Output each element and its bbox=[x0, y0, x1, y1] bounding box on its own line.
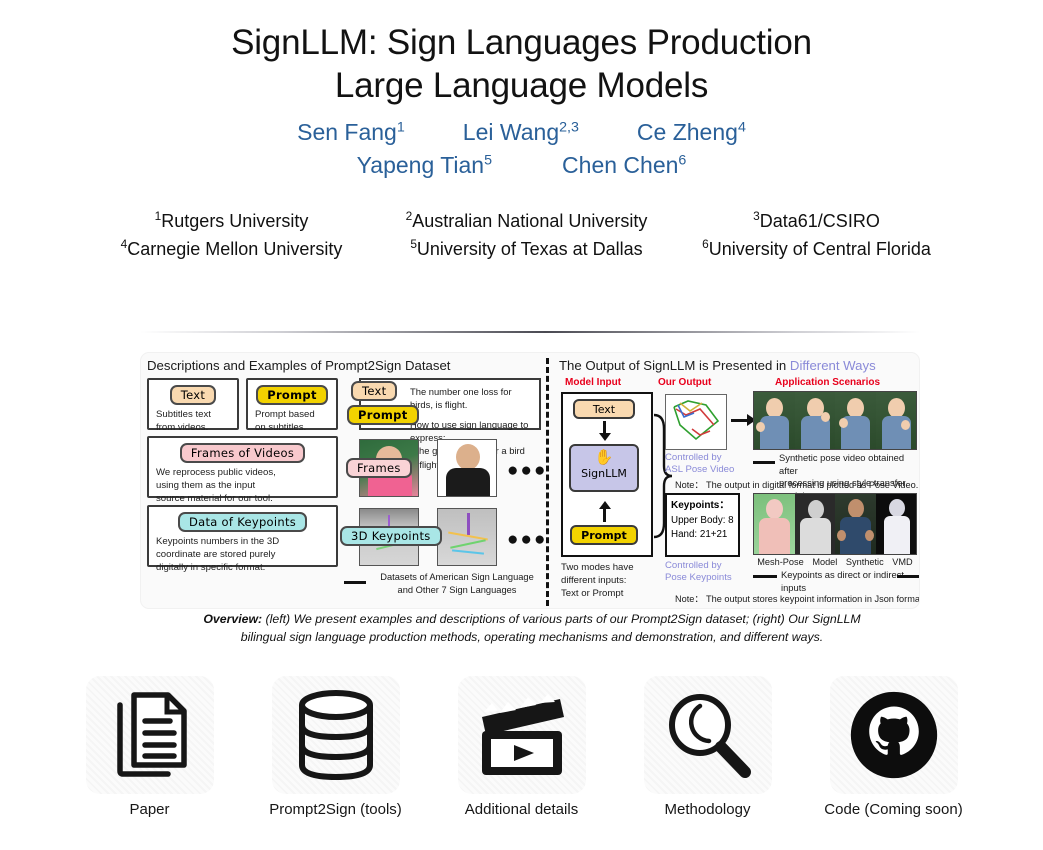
pill-text: Text bbox=[170, 385, 216, 405]
card-text-body: Subtitles textfrom videos. bbox=[149, 405, 237, 434]
scenario-caption-bar bbox=[753, 461, 775, 464]
author-sup: 2,3 bbox=[559, 120, 579, 136]
figure-caption: Overview: (left) We present examples and… bbox=[152, 610, 912, 647]
panel-separator bbox=[546, 358, 549, 606]
affiliation-5: 5University of Texas at Dallas bbox=[377, 236, 677, 264]
affiliation-list: 1Rutgers University 2Australian National… bbox=[0, 208, 1043, 264]
card-frames-of-videos: Frames of Videos We reprocess public vid… bbox=[147, 436, 338, 498]
node-prompt: Prompt bbox=[570, 525, 638, 545]
pill-example-prompt: Prompt bbox=[347, 405, 419, 425]
keypoints-box: Keypoints： Upper Body: 8 Hand: 21+21 bbox=[665, 493, 740, 557]
frame-thumb-2 bbox=[437, 439, 497, 497]
arrow-shaft-2 bbox=[603, 509, 606, 522]
dataset-caption: Datasets of American Sign Language and O… bbox=[373, 571, 541, 596]
arrow-head-2 bbox=[599, 501, 611, 509]
keypoints-caption: Keypoints as direct or indirect inputs bbox=[781, 569, 920, 594]
github-tile[interactable] bbox=[830, 676, 958, 794]
link-prompt2sign-tools[interactable]: Prompt2Sign (tools) bbox=[272, 676, 400, 818]
keypoints-ellipsis: ●●● bbox=[507, 530, 547, 549]
pose-video-thumb bbox=[665, 394, 727, 450]
figure-right-panel: The Output of SignLLM is Presented in Di… bbox=[553, 353, 920, 609]
title-line-1: SignLLM: Sign Languages Production bbox=[0, 22, 1043, 65]
paper-label: Paper bbox=[129, 801, 169, 818]
keypoints-caption-bar-left bbox=[753, 575, 777, 578]
right-panel-heading: The Output of SignLLM is Presented in Di… bbox=[553, 353, 920, 377]
pill-frames: Frames bbox=[346, 458, 412, 478]
link-icon-row: Paper Prompt2Sign (tools) bbox=[0, 676, 1043, 818]
additional-details-label: Additional details bbox=[465, 801, 578, 818]
author-lei-wang[interactable]: Lei Wang2,3 bbox=[463, 117, 579, 148]
link-code[interactable]: Code (Coming soon) bbox=[830, 676, 958, 818]
pill-frames-of-videos: Frames of Videos bbox=[180, 443, 305, 463]
author-sup: 5 bbox=[484, 153, 492, 169]
portrait-3 bbox=[835, 392, 876, 449]
arrow-head-1 bbox=[599, 433, 611, 441]
affiliation-6: 6University of Central Florida bbox=[677, 236, 957, 264]
code-label: Code (Coming soon) bbox=[824, 801, 962, 818]
keypoint-output-labels: Mesh-Pose Model Synthetic VMD bbox=[753, 557, 917, 567]
author-yapeng-tian[interactable]: Yapeng Tian5 bbox=[357, 150, 492, 181]
affiliation-2: 2Australian National University bbox=[377, 208, 677, 236]
methodology-label: Methodology bbox=[665, 801, 751, 818]
card-keypoints-body: Keypoints numbers in the 3Dcoordinate ar… bbox=[149, 532, 336, 575]
caption-line-1: (left) We present examples and descripti… bbox=[262, 612, 861, 626]
keypoints-upper-body: Upper Body: 8 bbox=[671, 515, 734, 526]
left-panel-heading: Descriptions and Examples of Prompt2Sign… bbox=[141, 353, 545, 377]
controlled-by-pose-video: Controlled by ASL Pose Video bbox=[665, 452, 734, 477]
pill-3d-keypoints: 3D Keypoints bbox=[340, 526, 442, 546]
caption-lead: Overview: bbox=[203, 612, 262, 626]
card-frames-body: We reprocess public videos,using them as… bbox=[149, 463, 336, 506]
affiliation-3: 3Data61/CSIRO bbox=[677, 208, 957, 236]
portrait-2 bbox=[795, 392, 836, 449]
example-text-value: The number one loss for birds, is flight… bbox=[410, 385, 534, 412]
mesh-pose-thumb bbox=[754, 494, 795, 554]
pill-example-text: Text bbox=[351, 381, 397, 401]
dataset-caption-bar bbox=[344, 581, 366, 584]
pill-data-of-keypoints: Data of Keypoints bbox=[178, 512, 307, 532]
label-our-output: Our Output bbox=[658, 377, 711, 388]
scenario-strip-portraits bbox=[753, 391, 917, 450]
card-prompt: Prompt Prompt basedon subtitles. bbox=[246, 378, 338, 430]
label-mesh-pose: Mesh-Pose bbox=[757, 557, 803, 567]
prompt2sign-label: Prompt2Sign (tools) bbox=[269, 801, 402, 818]
keypoints-title: Keypoints： bbox=[671, 500, 729, 511]
portrait-4 bbox=[876, 392, 917, 449]
model-thumb bbox=[795, 494, 836, 554]
portrait-1 bbox=[754, 392, 795, 449]
figure-canvas: Descriptions and Examples of Prompt2Sign… bbox=[140, 352, 920, 609]
poster-page: SignLLM: Sign Languages Production Large… bbox=[0, 0, 1043, 850]
label-application-scenarios: Application Scenarios bbox=[775, 377, 880, 388]
magnifier-tile[interactable] bbox=[644, 676, 772, 794]
magnifier-icon bbox=[663, 690, 753, 780]
card-data-of-keypoints: Data of Keypoints Keypoints numbers in t… bbox=[147, 505, 338, 567]
label-model-input: Model Input bbox=[565, 377, 621, 388]
author-ce-zheng[interactable]: Ce Zheng4 bbox=[637, 117, 746, 148]
label-synthetic: Synthetic bbox=[846, 557, 884, 567]
sign-hand-icon: ✋ bbox=[571, 450, 637, 465]
node-text: Text bbox=[573, 399, 635, 419]
frames-ellipsis: ●●● bbox=[507, 461, 547, 480]
github-icon bbox=[849, 690, 939, 780]
card-prompt-body: Prompt basedon subtitles. bbox=[248, 405, 336, 434]
author-sup: 1 bbox=[397, 120, 405, 136]
database-icon bbox=[292, 689, 380, 781]
controlled-by-pose-keypoints: Controlled by Pose Keypoints bbox=[665, 560, 732, 585]
clapperboard-tile[interactable] bbox=[458, 676, 586, 794]
scenario-strip-keypoint-outputs bbox=[753, 493, 917, 555]
label-vmd: VMD bbox=[892, 557, 912, 567]
keypoint-thumb-2 bbox=[437, 508, 497, 566]
figure-left-panel: Descriptions and Examples of Prompt2Sign… bbox=[141, 353, 545, 609]
clapperboard-icon bbox=[476, 691, 568, 779]
node-signllm: ✋ SignLLM bbox=[569, 444, 639, 492]
keypoints-caption-bar-right bbox=[897, 575, 919, 578]
author-sup: 6 bbox=[678, 153, 686, 169]
database-tile[interactable] bbox=[272, 676, 400, 794]
link-methodology[interactable]: Methodology bbox=[644, 676, 772, 818]
affiliation-1: 1Rutgers University bbox=[87, 208, 377, 236]
title-line-2: Large Language Models bbox=[0, 65, 1043, 108]
pill-prompt: Prompt bbox=[256, 385, 328, 405]
author-list: Sen Fang1 Lei Wang2,3 Ce Zheng4 Yapeng T… bbox=[0, 117, 1043, 181]
link-additional-details[interactable]: Additional details bbox=[458, 676, 586, 818]
author-sup: 4 bbox=[738, 120, 746, 136]
vmd-thumb bbox=[876, 494, 917, 554]
link-paper[interactable]: Paper bbox=[86, 676, 214, 818]
label-model: Model bbox=[812, 557, 837, 567]
caption-line-2: bilingual sign language production metho… bbox=[241, 630, 823, 644]
two-modes-note: Two modes have different inputs: Text or… bbox=[561, 561, 634, 601]
author-sen-fang[interactable]: Sen Fang1 bbox=[297, 117, 405, 148]
affiliation-4: 4Carnegie Mellon University bbox=[87, 236, 377, 264]
page-title: SignLLM: Sign Languages Production Large… bbox=[0, 0, 1043, 107]
keypoints-hand: Hand: 21+21 bbox=[671, 529, 727, 540]
synthetic-thumb bbox=[835, 494, 876, 554]
author-chen-chen[interactable]: Chen Chen6 bbox=[562, 150, 686, 181]
paper-tile[interactable] bbox=[86, 676, 214, 794]
document-icon bbox=[108, 691, 192, 779]
section-divider bbox=[140, 331, 920, 333]
card-text: Text Subtitles textfrom videos. bbox=[147, 378, 239, 430]
